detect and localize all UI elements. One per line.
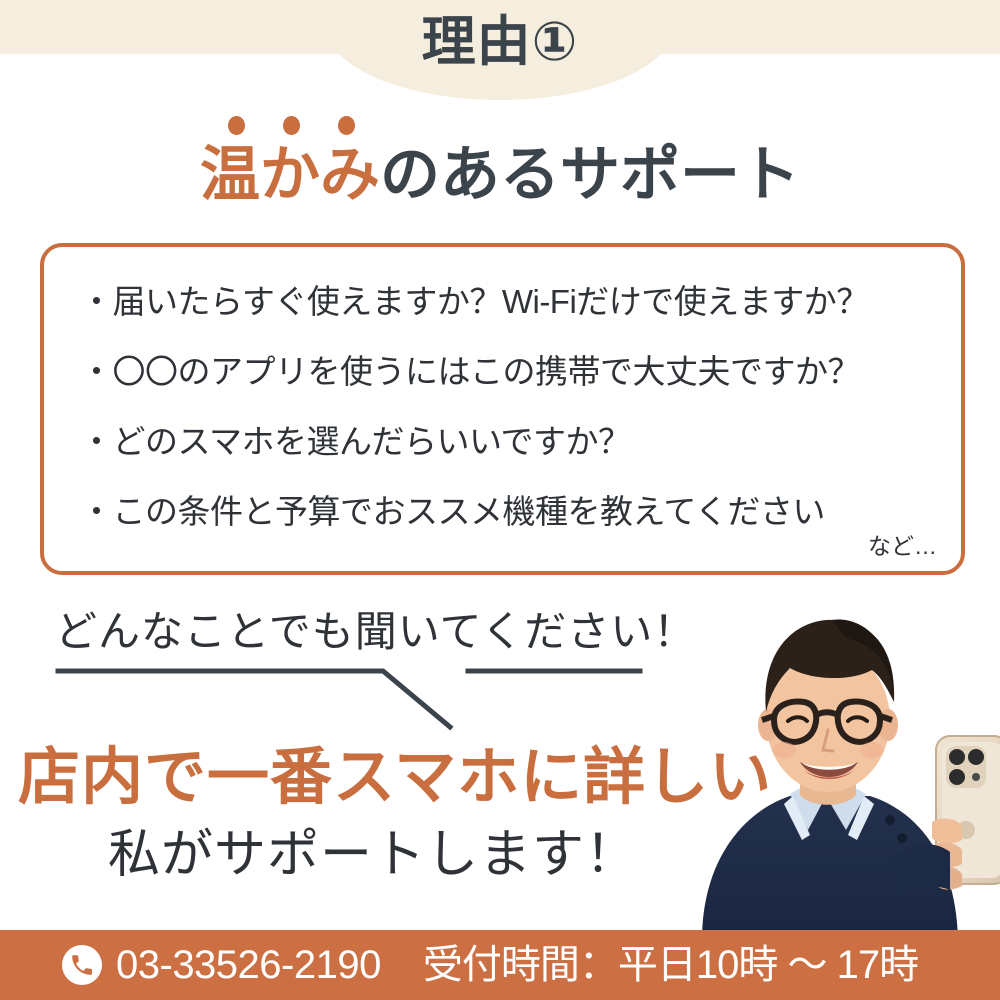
footer-content: 03-33526-2190 受付時間：平日10時 〜 17時 (62, 942, 918, 988)
dot-icon (228, 116, 245, 135)
question-list-box: ・届いたらすぐ使えますか？Wi-Fiだけで使えますか？ ・〇〇のアプリを使うには… (40, 243, 965, 575)
headline-orange: 店内で一番スマホに詳しい (18, 740, 772, 816)
list-item: ・届いたらすぐ使えますか？Wi-Fiだけで使えますか？ (80, 281, 943, 323)
speech-bubble-underline-icon (50, 665, 660, 735)
headline-dark: 私がサポートします！ (108, 822, 638, 888)
business-hours: 受付時間：平日10時 〜 17時 (423, 942, 918, 988)
phone-handset-glyph (69, 952, 95, 978)
dot-icon (283, 116, 300, 135)
page-title: 理由① (0, 12, 1000, 72)
ask-anything-text: どんなことでも聞いてください！ (55, 607, 696, 657)
phone-number[interactable]: 03-33526-2190 (116, 942, 381, 988)
list-item: ・この条件と予算でおススメ機種を教えてください (80, 491, 943, 533)
main-heading-accent: 温かみ (200, 141, 380, 208)
main-heading: 温かみのあるサポート (0, 140, 1000, 210)
dot-icon (338, 116, 355, 135)
list-item: ・〇〇のアプリを使うにはこの携帯で大丈夫ですか？ (80, 351, 943, 393)
contact-footer-bar: 03-33526-2190 受付時間：平日10時 〜 17時 (0, 930, 1000, 1000)
main-heading-rest: のあるサポート (380, 141, 800, 208)
three-dots-emphasis-icon (228, 116, 368, 136)
advertisement-page: 理由① 温かみのあるサポート ・届いたらすぐ使えますか？Wi-Fiだけで使えます… (0, 0, 1000, 1000)
phone-handset-icon[interactable] (62, 945, 102, 985)
question-list: ・届いたらすぐ使えますか？Wi-Fiだけで使えますか？ ・〇〇のアプリを使うには… (80, 281, 943, 533)
etc-label: など… (868, 533, 937, 559)
list-item: ・どのスマホを選んだらいいですか？ (80, 421, 943, 463)
